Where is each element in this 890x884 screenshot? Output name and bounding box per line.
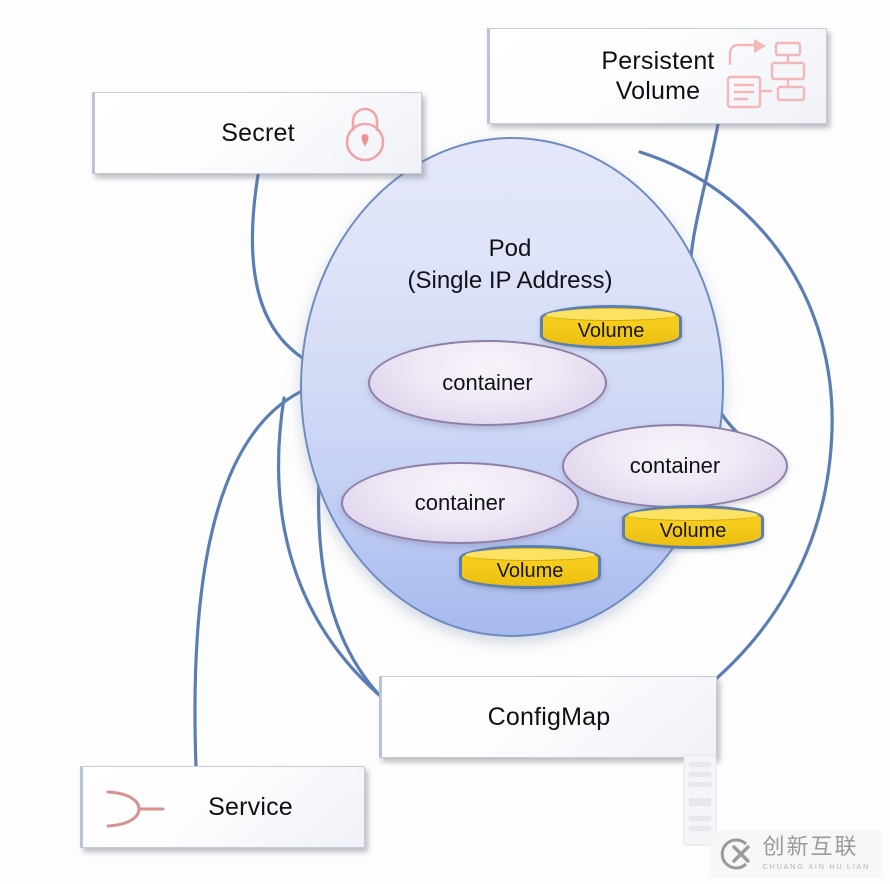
shapes-layer: Pod (Single IP Address) container contai… bbox=[0, 0, 890, 884]
padlock-icon bbox=[331, 101, 399, 169]
configmap-box[interactable]: ConfigMap bbox=[379, 676, 717, 758]
persistent-volume-box[interactable]: Persistent Volume bbox=[487, 28, 827, 124]
container-label: container bbox=[415, 490, 506, 516]
watermark: 创新互联 CHUANG XIN HU LIAN bbox=[710, 830, 882, 878]
storage-flow-icon bbox=[726, 39, 808, 115]
configmap-label: ConfigMap bbox=[488, 702, 611, 732]
secret-label: Secret bbox=[221, 118, 294, 148]
volume-cylinder[interactable]: Volume bbox=[622, 505, 764, 549]
volume-label: Volume bbox=[660, 512, 727, 543]
service-label: Service bbox=[154, 792, 293, 822]
persistent-volume-label: Persistent Volume bbox=[601, 46, 714, 106]
watermark-text: 创新互联 CHUANG XIN HU LIAN bbox=[762, 837, 870, 871]
pod-title: Pod (Single IP Address) bbox=[300, 233, 720, 296]
volume-label: Volume bbox=[497, 552, 564, 583]
volume-cylinder[interactable]: Volume bbox=[459, 545, 601, 589]
container-node[interactable]: container bbox=[368, 340, 607, 426]
container-node[interactable]: container bbox=[562, 424, 788, 508]
cx-logo-icon bbox=[719, 837, 753, 871]
service-box[interactable]: Service bbox=[80, 766, 365, 848]
watermark-chinese: 创新互联 bbox=[762, 837, 870, 859]
watermark-pinyin: CHUANG XIN HU LIAN bbox=[762, 863, 870, 871]
diagram-canvas: Pod (Single IP Address) container contai… bbox=[0, 0, 890, 884]
container-node[interactable]: container bbox=[341, 462, 579, 544]
secret-box[interactable]: Secret bbox=[92, 92, 422, 174]
volume-label: Volume bbox=[578, 312, 645, 343]
container-label: container bbox=[442, 370, 533, 396]
volume-cylinder[interactable]: Volume bbox=[540, 305, 682, 349]
container-label: container bbox=[630, 453, 721, 479]
